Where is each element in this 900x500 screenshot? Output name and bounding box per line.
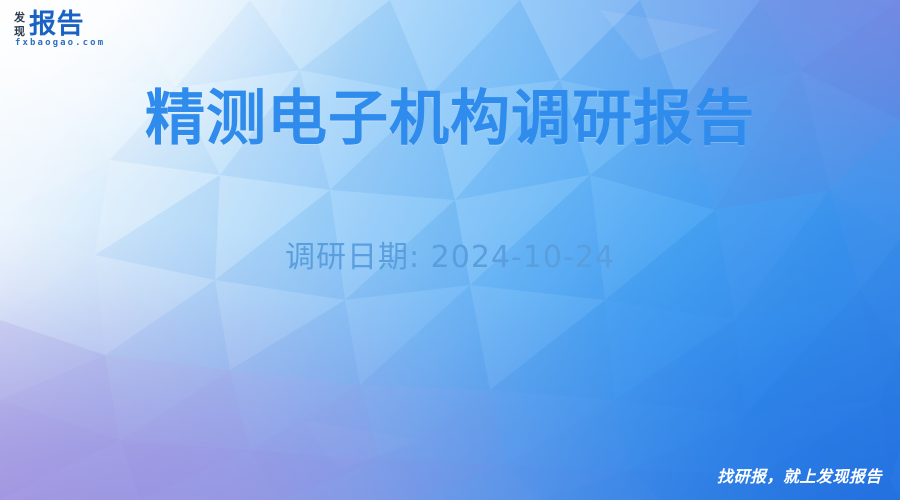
- cover-title-area: 精测电子机构调研报告: [0, 86, 900, 153]
- brand-logo-url: fxbaogao.com: [15, 38, 105, 48]
- footer-tagline: 找研报，就上发现报告: [717, 463, 882, 487]
- brand-logo-wordmark: 报告: [29, 11, 84, 38]
- report-cover: 发 现 报告 fxbaogao.com 精测电子机构调研报告 调研日期: 202…: [0, 0, 900, 500]
- brand-logo-mark-line2: 现: [14, 26, 25, 38]
- brand-logo-mark-line1: 发: [14, 12, 25, 24]
- brand-logo-mark: 发 现: [14, 11, 25, 38]
- survey-date-subtitle: 调研日期: 2024-10-24: [0, 232, 900, 276]
- brand-logo[interactable]: 发 现 报告: [14, 11, 84, 38]
- page-title: 精测电子机构调研报告: [0, 86, 900, 153]
- cover-subtitle-area: 调研日期: 2024-10-24: [0, 232, 900, 276]
